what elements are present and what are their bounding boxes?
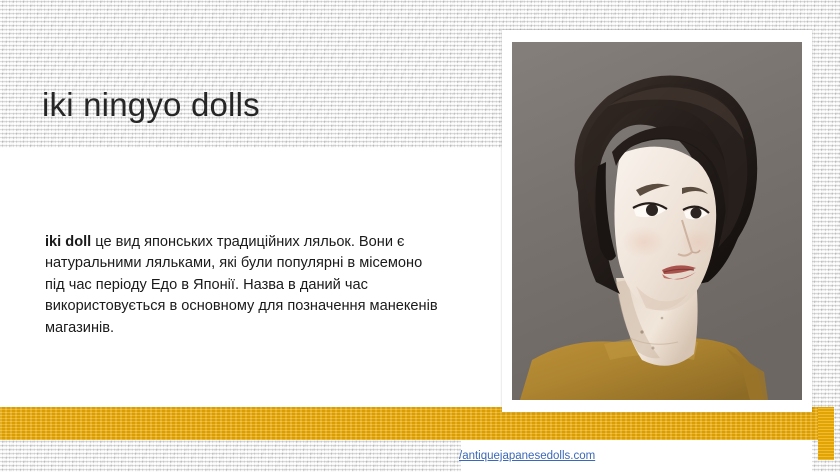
doll-photograph-illustration: [512, 42, 802, 400]
gold-accent-stub: [818, 407, 834, 460]
slide-title: iki ningyo dolls: [42, 84, 472, 126]
photo-frame: [502, 30, 812, 412]
footer-texture-band: [0, 440, 461, 472]
body-lead-term: iki doll: [45, 234, 91, 250]
source-url-link[interactable]: /antiquejapanesedolls.com: [459, 449, 595, 463]
doll-photograph: [512, 42, 802, 400]
slide-body-text: iki doll це вид японських традиційних ля…: [45, 232, 443, 339]
presentation-slide: iki ningyo dolls iki doll це вид японськ…: [0, 0, 840, 472]
body-rest-text: це вид японських традиційних ляльок. Вон…: [45, 234, 438, 336]
right-texture-band: [812, 0, 840, 472]
